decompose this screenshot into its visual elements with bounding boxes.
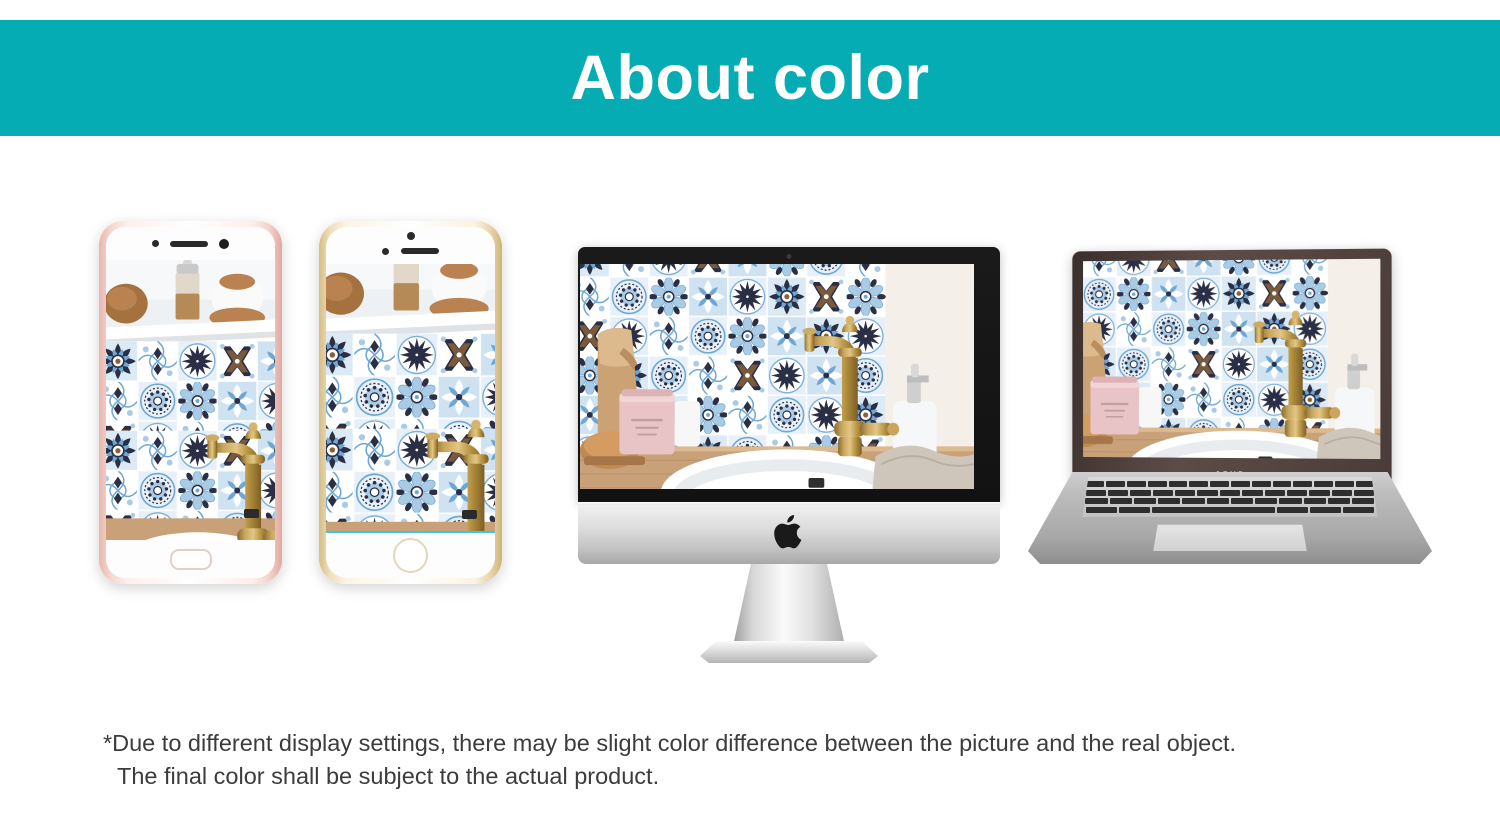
phone-screen (106, 227, 275, 578)
home-button[interactable] (393, 538, 428, 573)
device-imac[interactable] (566, 247, 1012, 747)
monitor-screen-image (580, 264, 974, 489)
keyboard-row (1086, 498, 1375, 504)
disclaimer-line-2: The final color shall be subject to the … (103, 760, 1423, 793)
laptop-base (1028, 472, 1432, 564)
kitchen-tile-scene (1083, 259, 1380, 459)
front-camera-icon (407, 232, 415, 240)
phone-screen (326, 227, 495, 578)
device-phone-rose-gold[interactable] (99, 221, 282, 584)
device-laptop[interactable]: ASUS (1028, 250, 1432, 670)
kitchen-tile-scene (326, 264, 495, 533)
phone-top-bezel (106, 227, 275, 260)
webcam-icon (787, 254, 792, 259)
color-disclaimer: *Due to different display settings, ther… (103, 694, 1423, 826)
laptop-trackpad[interactable] (1153, 524, 1307, 551)
earpiece-speaker-icon (170, 241, 208, 247)
phone-top-bezel (326, 227, 495, 264)
screen-edge-highlight (326, 531, 495, 533)
proximity-sensor-icon (152, 240, 159, 247)
disclaimer-line-1: *Due to different display settings, ther… (103, 730, 1236, 756)
chin-highlight (578, 502, 1000, 505)
keyboard-row (1086, 507, 1375, 513)
apple-logo-icon (774, 515, 804, 549)
sink-drain-icon (462, 510, 477, 519)
page-banner: About color (0, 20, 1500, 136)
sensor-row (326, 246, 495, 256)
laptop-lid: ASUS (1072, 249, 1391, 484)
laptop-keyboard[interactable] (1083, 477, 1378, 517)
sink-drain-icon (244, 509, 259, 518)
phone-bottom-bezel (106, 540, 275, 578)
phone-screen-image (106, 260, 275, 540)
phone-bottom-bezel (326, 533, 495, 578)
monitor-stand-foot (700, 641, 878, 663)
monitor-chin (578, 502, 1000, 564)
kitchen-tile-scene (106, 260, 275, 540)
proximity-sensor-icon (382, 248, 389, 255)
keyboard-row (1086, 481, 1375, 487)
page-title: About color (571, 47, 930, 110)
laptop-screen-image (1083, 259, 1380, 459)
phone-screen-image (326, 264, 495, 533)
monitor-stand-neck (733, 564, 845, 646)
device-phone-gold[interactable] (319, 221, 502, 584)
keyboard-row (1086, 490, 1375, 496)
device-showcase: ASUS (0, 136, 1500, 696)
earpiece-speaker-icon (401, 248, 439, 254)
home-button[interactable] (170, 549, 212, 570)
kitchen-tile-scene (580, 264, 974, 489)
front-camera-icon (219, 239, 229, 249)
